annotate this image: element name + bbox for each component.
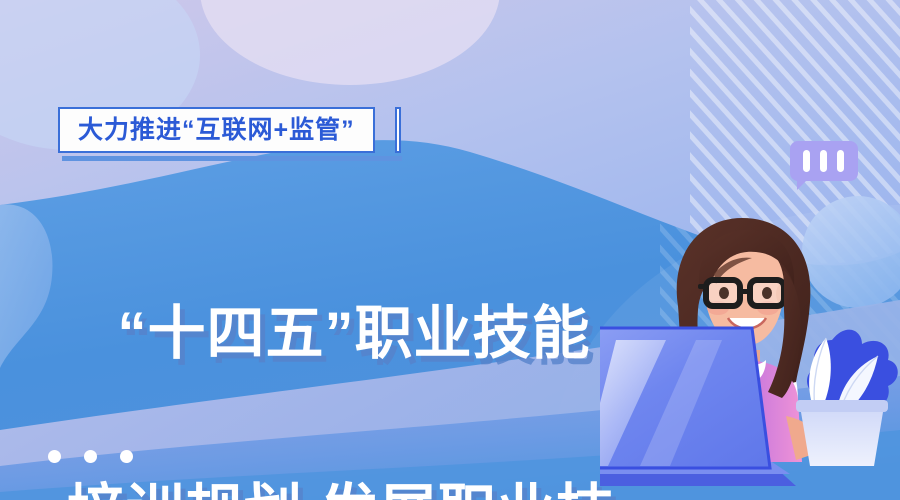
headline-line-1: “十四五”职业技能 xyxy=(18,304,690,363)
bubble-bar-3 xyxy=(837,150,844,172)
page-title: “十四五”职业技能 培训规划 发展职业技 能培训 xyxy=(0,186,690,500)
woman-at-laptop-illustration xyxy=(600,210,900,500)
banner-root: 大力推进“互联网+监管” “十四五”职业技能 培训规划 发展职业技 能培训 xyxy=(0,0,900,500)
pot-rim xyxy=(796,400,888,412)
chat-bubble-icon xyxy=(790,141,858,181)
subtitle-accent-bar xyxy=(395,107,401,153)
headline-line-2: 培训规划 发展职业技 xyxy=(0,482,690,500)
subtitle-box: 大力推进“互联网+监管” xyxy=(58,107,375,153)
bubble-bar-2 xyxy=(820,150,827,172)
eye-right xyxy=(762,287,772,299)
eye-left xyxy=(719,287,729,299)
subtitle-underline xyxy=(62,156,402,161)
plant-pot xyxy=(800,406,884,466)
bubble-bar-1 xyxy=(803,150,810,172)
subtitle-text: 大力推进“互联网+监管” xyxy=(78,118,355,143)
illustration-svg xyxy=(600,210,900,500)
